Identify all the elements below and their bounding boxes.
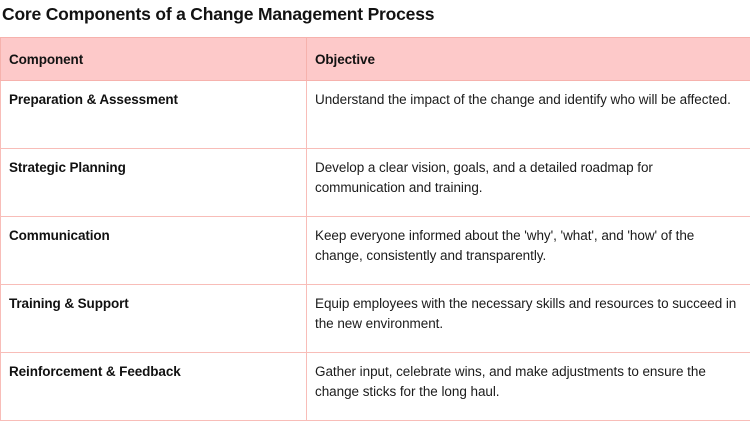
- cell-component: Communication: [1, 217, 307, 285]
- table-body: Preparation & Assessment Understand the …: [1, 81, 750, 421]
- table-row: Communication Keep everyone informed abo…: [1, 217, 750, 285]
- cell-objective: Gather input, celebrate wins, and make a…: [307, 353, 750, 421]
- change-management-table-container: Component Objective Preparation & Assess…: [0, 37, 750, 421]
- change-management-table: Component Objective Preparation & Assess…: [0, 37, 750, 421]
- page-root: Core Components of a Change Management P…: [0, 0, 750, 422]
- table-row: Training & Support Equip employees with …: [1, 285, 750, 353]
- cell-component: Strategic Planning: [1, 149, 307, 217]
- cell-component: Preparation & Assessment: [1, 81, 307, 149]
- table-row: Strategic Planning Develop a clear visio…: [1, 149, 750, 217]
- column-header-component: Component: [1, 38, 307, 81]
- cell-objective: Keep everyone informed about the 'why', …: [307, 217, 750, 285]
- table-header-row: Component Objective: [1, 38, 750, 81]
- cell-component: Reinforcement & Feedback: [1, 353, 307, 421]
- table-header: Component Objective: [1, 38, 750, 81]
- cell-objective: Equip employees with the necessary skill…: [307, 285, 750, 353]
- table-row: Preparation & Assessment Understand the …: [1, 81, 750, 149]
- cell-component: Training & Support: [1, 285, 307, 353]
- page-title: Core Components of a Change Management P…: [2, 2, 742, 26]
- cell-objective: Develop a clear vision, goals, and a det…: [307, 149, 750, 217]
- table-row: Reinforcement & Feedback Gather input, c…: [1, 353, 750, 421]
- cell-objective: Understand the impact of the change and …: [307, 81, 750, 149]
- column-header-objective: Objective: [307, 38, 750, 81]
